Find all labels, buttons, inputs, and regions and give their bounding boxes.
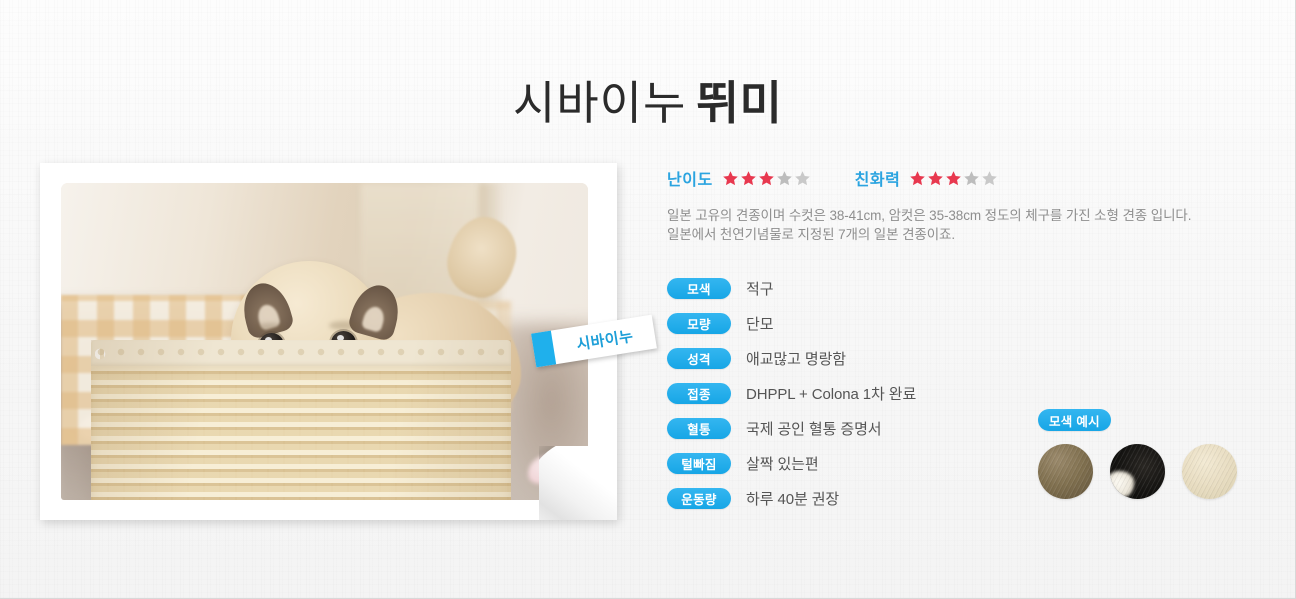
star-empty-icon [963,170,980,187]
tag-accent-edge [531,331,556,368]
puppy-photo [61,183,588,500]
star-filled-icon [740,170,757,187]
title-bold: 뛰미 [696,77,783,129]
rating-friendliness-stars [909,170,998,187]
star-filled-icon [758,170,775,187]
rating-friendliness: 친화력 [855,166,999,190]
spec-label-badge: 모색 [667,278,731,299]
basket-shading [91,340,511,500]
star-filled-icon [722,170,739,187]
spec-value: 하루 40분 권장 [746,488,839,509]
wicker-basket [91,340,511,500]
spec-value: 살짝 있는편 [746,453,819,474]
spec-value: 적구 [746,278,773,299]
spec-row-vaccination: 접종 DHPPL + Colona 1차 완료 [667,376,1247,411]
rating-friendliness-label: 친화력 [855,166,901,190]
spec-label-badge: 혈통 [667,418,731,439]
puppy-brow-right [329,321,359,330]
spec-label-badge: 접종 [667,383,731,404]
spec-label-badge: 성격 [667,348,731,369]
page-title-text: 시바이누뛰미 [513,73,783,133]
puppy-brow-left [255,323,285,332]
rating-difficulty-stars [722,170,811,187]
page-curl-corner [539,446,617,520]
coat-samples-badge: 모색 예시 [1038,409,1111,431]
star-filled-icon [909,170,926,187]
spec-row-coat-color: 모색 적구 [667,271,1247,306]
spec-value: 단모 [746,313,773,334]
brown-fur-swatch[interactable] [1038,444,1093,499]
cream-fur-swatch[interactable] [1182,444,1237,499]
star-empty-icon [794,170,811,187]
spec-label-badge: 운동량 [667,488,731,509]
star-empty-icon [776,170,793,187]
spec-value: 국제 공인 혈통 증명서 [746,418,882,439]
spec-label-badge: 모량 [667,313,731,334]
star-filled-icon [927,170,944,187]
product-page: 시바이누뛰미 [0,0,1296,599]
spec-value: DHPPL + Colona 1차 완료 [746,383,916,404]
rating-difficulty-label: 난이도 [667,166,713,190]
spec-row-temperament: 성격 애교많고 명랑함 [667,341,1247,376]
coat-swatch-row [1038,444,1253,499]
coat-color-samples: 모색 예시 [1038,409,1253,499]
star-filled-icon [945,170,962,187]
star-empty-icon [981,170,998,187]
breed-description: 일본 고유의 견종이며 수컷은 38-41cm, 암컷은 35-38cm 정도의… [667,206,1247,244]
spec-row-coat-amount: 모량 단모 [667,306,1247,341]
spec-label-badge: 털빠짐 [667,453,731,474]
page-title: 시바이누뛰미 [0,42,1296,164]
ratings-row: 난이도 친화력 [667,165,1247,191]
description-line-1: 일본 고유의 견종이며 수컷은 38-41cm, 암컷은 35-38cm 정도의… [667,206,1247,225]
description-line-2: 일본에서 천연기념물로 지정된 7개의 일본 견종이죠. [667,225,1247,244]
black-white-fur-swatch[interactable] [1110,444,1165,499]
rating-difficulty: 난이도 [667,166,811,190]
spec-value: 애교많고 명랑함 [746,348,846,369]
puppy-photo-card[interactable] [40,163,617,520]
title-light: 시바이누 [513,77,686,129]
